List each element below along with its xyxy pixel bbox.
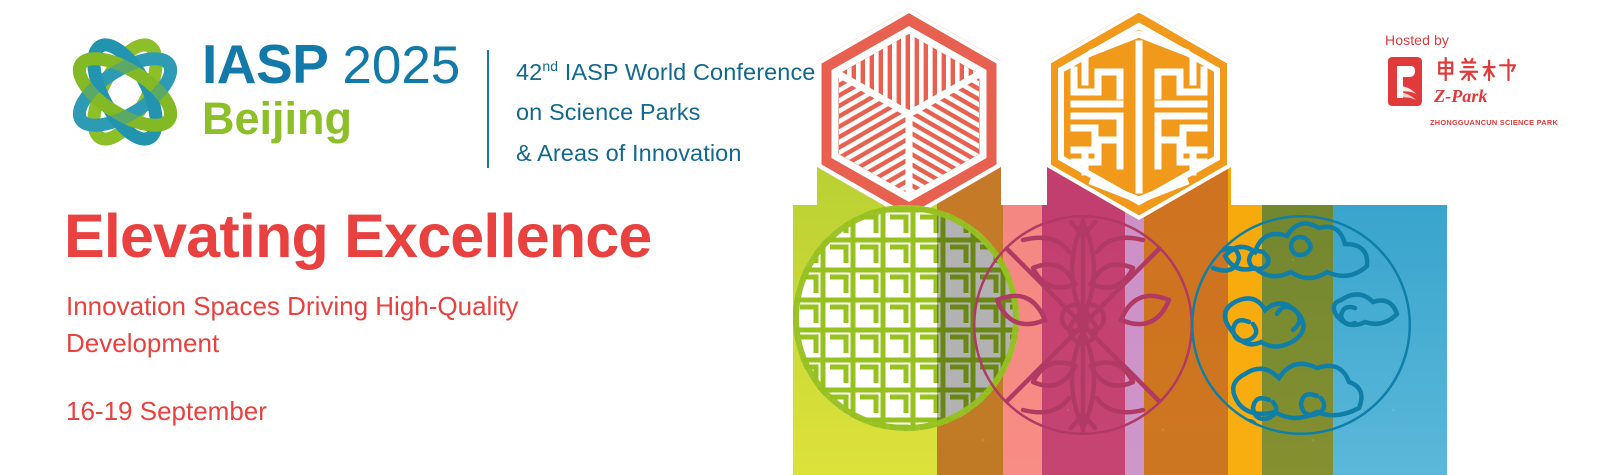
ornamental-artwork xyxy=(793,0,1447,475)
event-headline: Elevating Excellence xyxy=(64,206,652,267)
zpark-text-group: Z-Park ZHONGGUANCUN SCIENCE PARK xyxy=(1430,56,1558,130)
iasp-acronym: IASP xyxy=(202,39,328,90)
band-sky xyxy=(1333,0,1447,475)
iasp-year: 2025 xyxy=(342,42,460,91)
conference-ordinal-number: 42 xyxy=(516,59,542,85)
zpark-tagline: ZHONGGUANCUN SCIENCE PARK xyxy=(1430,118,1558,127)
band-golden xyxy=(1228,0,1262,475)
iasp-wordmark: IASP 2025 Beijing xyxy=(202,33,460,142)
conference-title: 42nd IASP World Conference on Science Pa… xyxy=(516,52,815,173)
conference-title-line-3: & Areas of Innovation xyxy=(516,133,815,173)
zpark-latin-name: Z-Park xyxy=(1430,86,1558,112)
conference-title-line-2: on Science Parks xyxy=(516,92,815,132)
iasp-logo-lockup: IASP 2025 Beijing xyxy=(66,33,460,151)
iasp-atom-logo-icon xyxy=(66,33,184,151)
conference-ordinal-suffix: nd xyxy=(542,58,558,74)
conference-banner: IASP 2025 Beijing 42nd IASP World Confer… xyxy=(0,0,1600,475)
conference-title-line-1: 42nd IASP World Conference xyxy=(516,52,815,92)
vertical-divider xyxy=(487,50,489,168)
iasp-city: Beijing xyxy=(202,95,460,142)
event-subheadline: Innovation Spaces Driving High-Quality D… xyxy=(66,288,586,362)
conference-title-rest: IASP World Conference xyxy=(558,59,815,85)
zpark-chinese-name xyxy=(1430,57,1558,86)
event-dates: 16-19 September xyxy=(66,396,267,427)
